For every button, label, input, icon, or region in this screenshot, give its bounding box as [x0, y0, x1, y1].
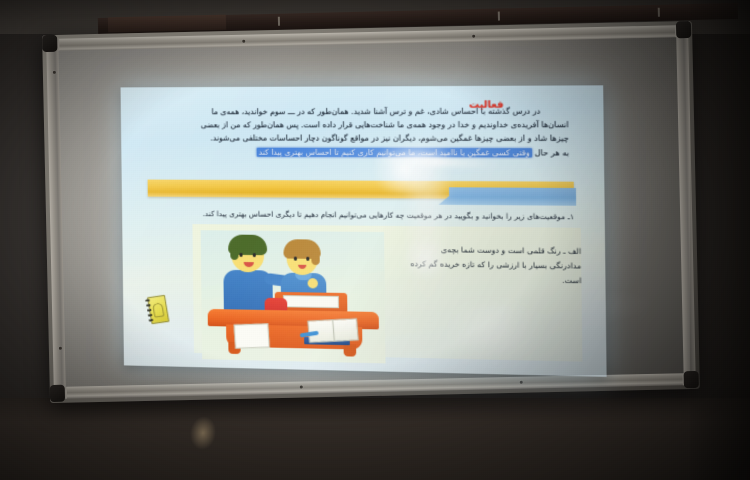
frame-screw [242, 40, 245, 43]
child-right-eye-left [294, 257, 297, 261]
activity-banner-blue-tab [438, 187, 576, 206]
slide-paragraph: در درس گذشته با احساس شادی، غم و ترس آشن… [151, 104, 569, 159]
whiteboard: در درس گذشته با احساس شادی، غم و ترس آشن… [42, 21, 700, 403]
projected-slide: در درس گذشته با احساس شادی، غم و ترس آشن… [121, 85, 607, 377]
child-right-hair [283, 239, 320, 259]
frame-screw [300, 386, 303, 389]
highlighted-sentence: وقتی کسی غمگین یا ناامید است، ما می‌توان… [256, 147, 532, 157]
corner-cap-bottom-left [50, 385, 65, 402]
paper-sheet [234, 323, 270, 348]
child-left-eye-right [253, 253, 256, 257]
child-right-eye-right [306, 257, 309, 261]
classroom-scene: در درس گذشته با احساس شادی، غم و ترس آشن… [0, 0, 750, 480]
child-left-hair [228, 235, 267, 256]
paragraph-line-1: در درس گذشته با احساس شادی، غم و ترس آشن… [151, 104, 569, 118]
activity-banner-title: فعالیت [469, 99, 504, 110]
desk-leg-right [344, 344, 357, 357]
paragraph-line-4-lead: به هر حال [535, 148, 570, 157]
activity-item-text: الف ـ رنگ قلمی است و دوست شما بچه‌ی مداد… [388, 242, 581, 288]
item-line-3: است. [389, 271, 582, 288]
spiral-notebook-icon [147, 295, 169, 324]
activity-instruction: ۱ـ موقعیت‌های زیر را بخوانید و بگویید در… [148, 208, 574, 223]
activity-banner [148, 180, 574, 200]
corner-cap-top-right [676, 21, 691, 38]
frame-screw [53, 71, 56, 74]
item-line-2: مدادرنگی بسیار با ارزشی را که تازه خریده… [389, 257, 582, 274]
illustration-two-children-at-desk [201, 230, 386, 363]
wall-lower [0, 398, 750, 480]
wall-right-shadow [690, 0, 750, 480]
child-left-hand [308, 278, 318, 288]
corner-cap-top-left [42, 35, 57, 52]
paragraph-line-3: چیزها شاد و از بعضی چیزها غمگین می‌شوم، … [151, 132, 569, 146]
frame-screw [59, 347, 62, 350]
child-left-eye-left [239, 253, 242, 257]
paragraph-line-4: به هر حال وقتی کسی غمگین یا ناامید است، … [151, 145, 569, 159]
shelf-paper [283, 295, 339, 308]
whiteboard-surface[interactable]: در درس گذشته با احساس شادی، غم و ترس آشن… [58, 37, 683, 386]
slide-page: در درس گذشته با احساس شادی، غم و ترس آشن… [121, 85, 607, 377]
frame-screw [472, 35, 475, 38]
paragraph-line-2: انسان‌ها آفریده‌ی خداوندیم و خدا در وجود… [151, 118, 569, 132]
ceiling-rail-segment [108, 15, 226, 33]
